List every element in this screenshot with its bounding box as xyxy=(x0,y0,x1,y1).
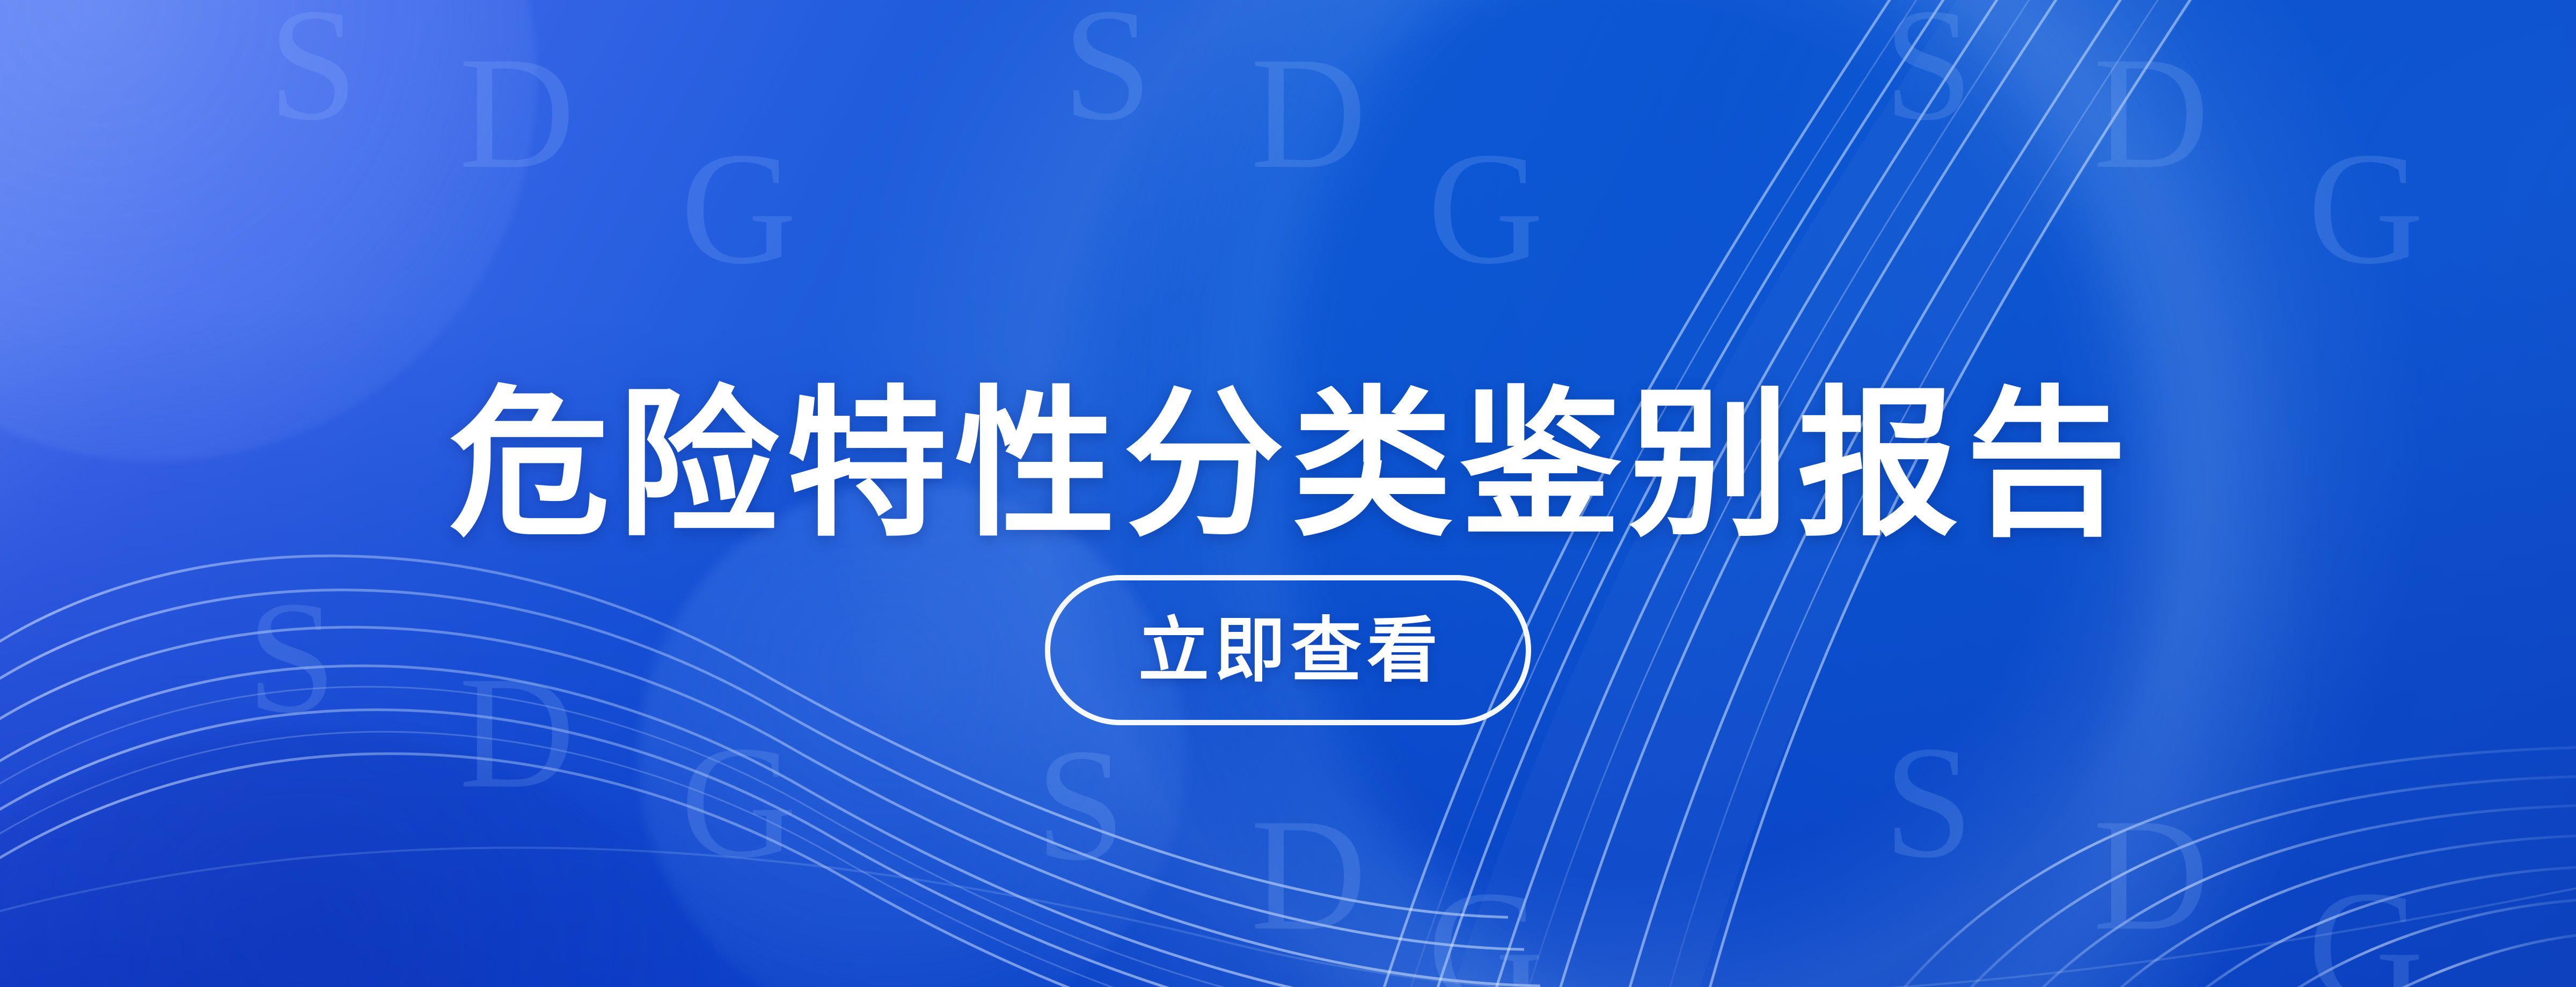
view-now-button[interactable]: 立即查看 xyxy=(1045,575,1531,725)
cta-container: 立即查看 xyxy=(0,575,2576,725)
page-title: 危险特性分类鉴别报告 xyxy=(0,374,2576,555)
promo-banner: SDGSDGSDGSDGSDGSDG 危险特性分类鉴别报告 立即查看 xyxy=(0,0,2576,987)
